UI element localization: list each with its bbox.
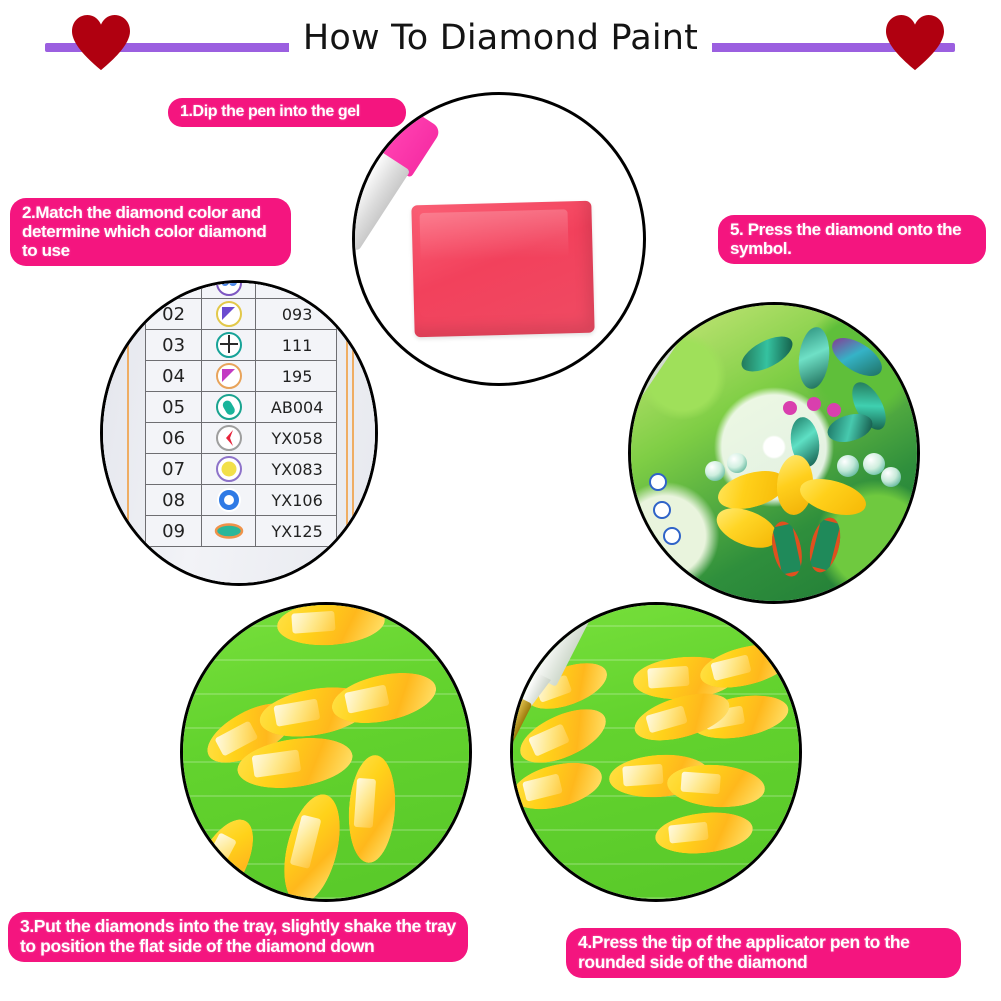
step-2-photo: 02802 09303 11104 19505 AB00406 (100, 280, 378, 586)
chart-margin-line (127, 283, 129, 583)
printed-symbol (807, 397, 821, 411)
chart-row-number: 05 (146, 392, 202, 423)
chart-row-symbol-icon (202, 516, 256, 547)
chart-row-number: 04 (146, 361, 202, 392)
chart-row-number: 07 (146, 454, 202, 485)
step-4-photo (510, 602, 802, 902)
table-row: 028 (146, 280, 337, 299)
chart-row-symbol-icon (202, 485, 256, 516)
chart-row-number: 09 (146, 516, 202, 547)
printed-symbol (653, 501, 671, 519)
chart-margin-line (346, 283, 348, 583)
green-gem (826, 330, 888, 383)
chart-row-symbol-icon (202, 299, 256, 330)
color-code-table: 02802 09303 11104 19505 AB00406 (145, 280, 337, 547)
table-row: 02 093 (146, 299, 337, 330)
page-title-text: How To Diamond Paint (289, 18, 712, 58)
infographic-page: How To Diamond Paint 1.Dip the pen into … (0, 0, 1001, 1001)
step-3-label: 3.Put the diamonds into the tray, slight… (8, 912, 468, 962)
printed-symbol (649, 473, 667, 491)
round-gem (837, 455, 859, 477)
green-gem (736, 329, 798, 378)
chart-row-code: 028 (256, 280, 337, 299)
chart-row-symbol-icon (202, 280, 256, 299)
chart-row-code: YX058 (256, 423, 337, 454)
chart-row-code: YX083 (256, 454, 337, 485)
yellow-gem (711, 500, 783, 555)
page-header: How To Diamond Paint (0, 0, 1001, 88)
step-5-label: 5. Press the diamond onto the symbol. (718, 215, 986, 264)
chart-row-code: YX125 (256, 516, 337, 547)
printed-symbol (783, 401, 797, 415)
chart-row-code: 111 (256, 330, 337, 361)
chart-row-symbol-icon (202, 392, 256, 423)
chart-margin-line (352, 283, 354, 583)
printed-symbol (805, 514, 846, 575)
chart-row-code: 195 (256, 361, 337, 392)
round-gem (881, 467, 901, 487)
table-row: 08 YX106 (146, 485, 337, 516)
table-row: 07 YX083 (146, 454, 337, 485)
chart-row-code: YX106 (256, 485, 337, 516)
page-title: How To Diamond Paint (0, 18, 1001, 58)
chart-row-number: 02 (146, 299, 202, 330)
table-row: 04 195 (146, 361, 337, 392)
printed-symbol (827, 403, 841, 417)
printed-symbol (663, 527, 681, 545)
chart-row-number (146, 280, 202, 299)
chart-row-symbol-icon (202, 454, 256, 485)
table-row: 09 YX125 (146, 516, 337, 547)
step-5-photo (628, 302, 920, 604)
table-row: 06 YX058 (146, 423, 337, 454)
step-4-label: 4.Press the tip of the applicator pen to… (566, 928, 961, 978)
round-gem (705, 461, 725, 481)
color-chart-paper: 02802 09303 11104 19505 AB00406 (103, 283, 375, 583)
chart-row-code: AB004 (256, 392, 337, 423)
green-gem (796, 326, 832, 391)
chart-row-number: 03 (146, 330, 202, 361)
step-3-photo (180, 602, 472, 902)
round-gem (727, 453, 747, 473)
chart-row-symbol-icon (202, 423, 256, 454)
table-row: 05 AB004 (146, 392, 337, 423)
pen-tip (510, 695, 532, 743)
chart-row-number: 08 (146, 485, 202, 516)
table-row: 03 111 (146, 330, 337, 361)
step-1-photo (352, 92, 646, 386)
chart-row-symbol-icon (202, 330, 256, 361)
chart-row-symbol-icon (202, 361, 256, 392)
pink-gel-pad (411, 201, 594, 338)
chart-row-code: 093 (256, 299, 337, 330)
chart-row-number: 06 (146, 423, 202, 454)
step-2-label: 2.Match the diamond color and determine … (10, 198, 291, 266)
